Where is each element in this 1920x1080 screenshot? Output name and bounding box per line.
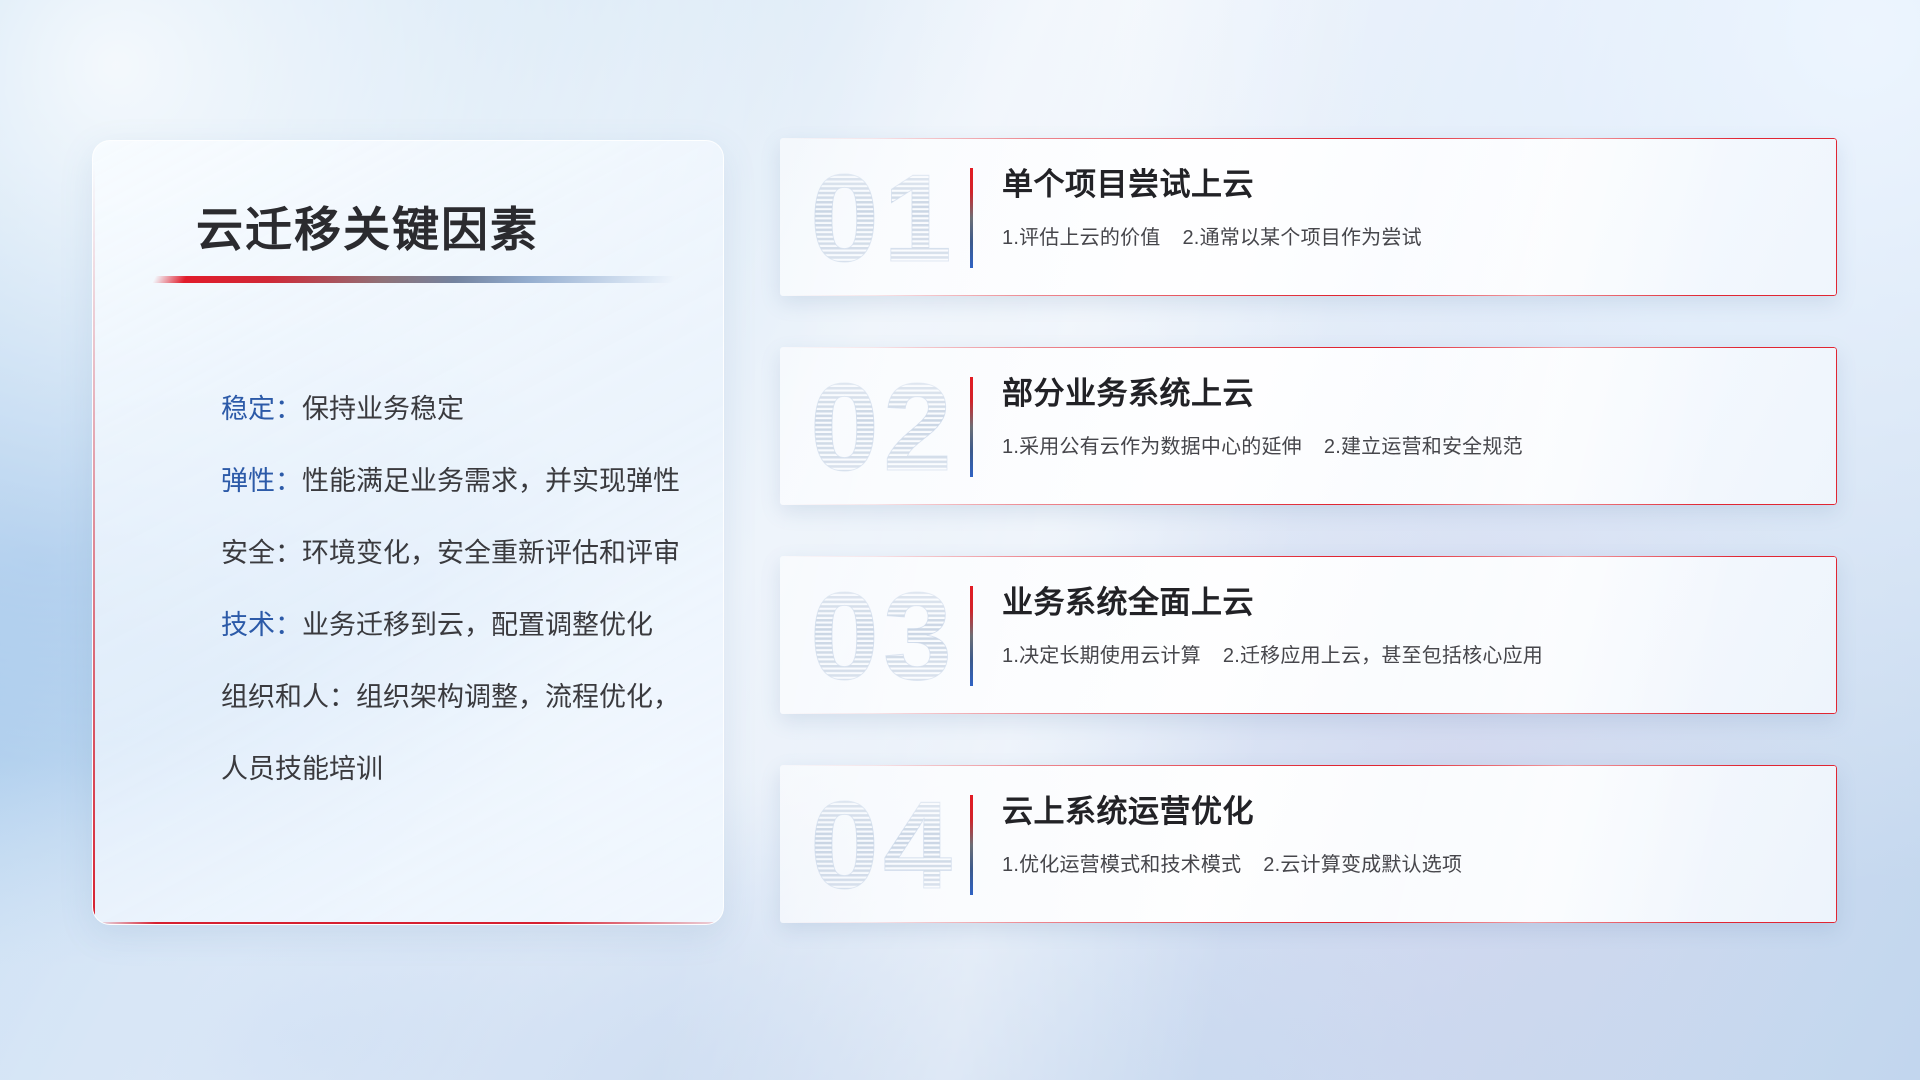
factor-item: 弹性：性能满足业务需求，并实现弹性: [221, 468, 693, 495]
factor-text: 人员技能培训: [221, 754, 383, 784]
svg-text:02: 02: [810, 364, 956, 488]
stage-number-02-icon: 02 02: [808, 364, 988, 488]
stage-card[interactable]: 04 04 云上系统运营优化 1.优化运营模式和技术模式2.云计算变成默认选项: [780, 765, 1837, 923]
stage-number-03-icon: 03 03: [808, 573, 988, 697]
factor-item-continuation: 人员技能培训: [221, 756, 693, 783]
slide-canvas: 云迁移关键因素 稳定：保持业务稳定 弹性：性能满足业务需求，并实现弹性 安全：环…: [0, 0, 1920, 1080]
card-body: 业务系统全面上云 1.决定长期使用云计算2.迁移应用上云，甚至包括核心应用: [1002, 584, 1813, 668]
factor-item: 技术：业务迁移到云，配置调整优化: [221, 612, 693, 639]
factor-item: 安全：环境变化，安全重新评估和评审: [221, 540, 693, 567]
card-point-2: 2.建立运营和安全规范: [1324, 436, 1523, 458]
card-point-2: 2.云计算变成默认选项: [1263, 854, 1462, 876]
card-point-1: 1.优化运营模式和技术模式: [1002, 854, 1241, 876]
factor-list: 稳定：保持业务稳定 弹性：性能满足业务需求，并实现弹性 安全：环境变化，安全重新…: [221, 396, 693, 783]
card-title: 业务系统全面上云: [1002, 584, 1813, 623]
factor-label: 技术：: [221, 610, 302, 640]
card-accent-divider: [970, 586, 973, 686]
card-title: 云上系统运营优化: [1002, 793, 1813, 832]
stage-number-01-icon: 01 01: [808, 155, 988, 279]
factor-label: 弹性：: [221, 466, 302, 496]
card-body: 部分业务系统上云 1.采用公有云作为数据中心的延伸2.建立运营和安全规范: [1002, 375, 1813, 459]
card-point-1: 1.决定长期使用云计算: [1002, 645, 1201, 667]
factor-label: 稳定：: [221, 394, 302, 424]
card-point-2: 2.通常以某个项目作为尝试: [1182, 227, 1421, 249]
card-body: 云上系统运营优化 1.优化运营模式和技术模式2.云计算变成默认选项: [1002, 793, 1813, 877]
stage-card[interactable]: 01 01 单个项目尝试上云 1.评估上云的价值2.通常以某个项目作为尝试: [780, 138, 1837, 296]
card-accent-divider: [970, 168, 973, 268]
card-point-1: 1.评估上云的价值: [1002, 227, 1160, 249]
svg-text:01: 01: [810, 155, 956, 279]
card-accent-divider: [970, 795, 973, 895]
factor-text: 环境变化，安全重新评估和评审: [302, 538, 680, 568]
migration-stage-cards: 01 01 单个项目尝试上云 1.评估上云的价值2.通常以某个项目作为尝试: [780, 138, 1837, 923]
stage-card[interactable]: 03 03 业务系统全面上云 1.决定长期使用云计算2.迁移应用上云，甚至包括核…: [780, 556, 1837, 714]
card-accent-divider: [970, 377, 973, 477]
card-description: 1.优化运营模式和技术模式2.云计算变成默认选项: [1002, 848, 1813, 877]
factor-item: 稳定：保持业务稳定: [221, 396, 693, 423]
stage-card[interactable]: 02 02 部分业务系统上云 1.采用公有云作为数据中心的延伸2.建立运营和安全…: [780, 347, 1837, 505]
svg-text:03: 03: [810, 573, 956, 697]
factor-text: 业务迁移到云，配置调整优化: [302, 610, 653, 640]
factor-text: 性能满足业务需求，并实现弹性: [302, 466, 680, 496]
svg-text:04: 04: [810, 782, 956, 906]
page-title: 云迁移关键因素: [196, 191, 539, 260]
factor-label: 组织和人：: [221, 682, 356, 712]
card-title: 单个项目尝试上云: [1002, 166, 1813, 205]
card-point-1: 1.采用公有云作为数据中心的延伸: [1002, 436, 1302, 458]
card-point-2: 2.迁移应用上云，甚至包括核心应用: [1223, 645, 1543, 667]
title-underline-accent: [152, 276, 675, 283]
factor-item: 组织和人：组织架构调整，流程优化，: [221, 684, 693, 711]
factor-text: 保持业务稳定: [302, 394, 464, 424]
card-description: 1.采用公有云作为数据中心的延伸2.建立运营和安全规范: [1002, 430, 1813, 459]
stage-number-04-icon: 04 04: [808, 782, 988, 906]
key-factors-panel: 云迁移关键因素 稳定：保持业务稳定 弹性：性能满足业务需求，并实现弹性 安全：环…: [92, 140, 724, 925]
factor-text: 组织架构调整，流程优化，: [356, 682, 680, 712]
factor-label: 安全：: [221, 538, 302, 568]
card-title: 部分业务系统上云: [1002, 375, 1813, 414]
card-body: 单个项目尝试上云 1.评估上云的价值2.通常以某个项目作为尝试: [1002, 166, 1813, 250]
card-description: 1.决定长期使用云计算2.迁移应用上云，甚至包括核心应用: [1002, 639, 1813, 668]
card-description: 1.评估上云的价值2.通常以某个项目作为尝试: [1002, 221, 1813, 250]
